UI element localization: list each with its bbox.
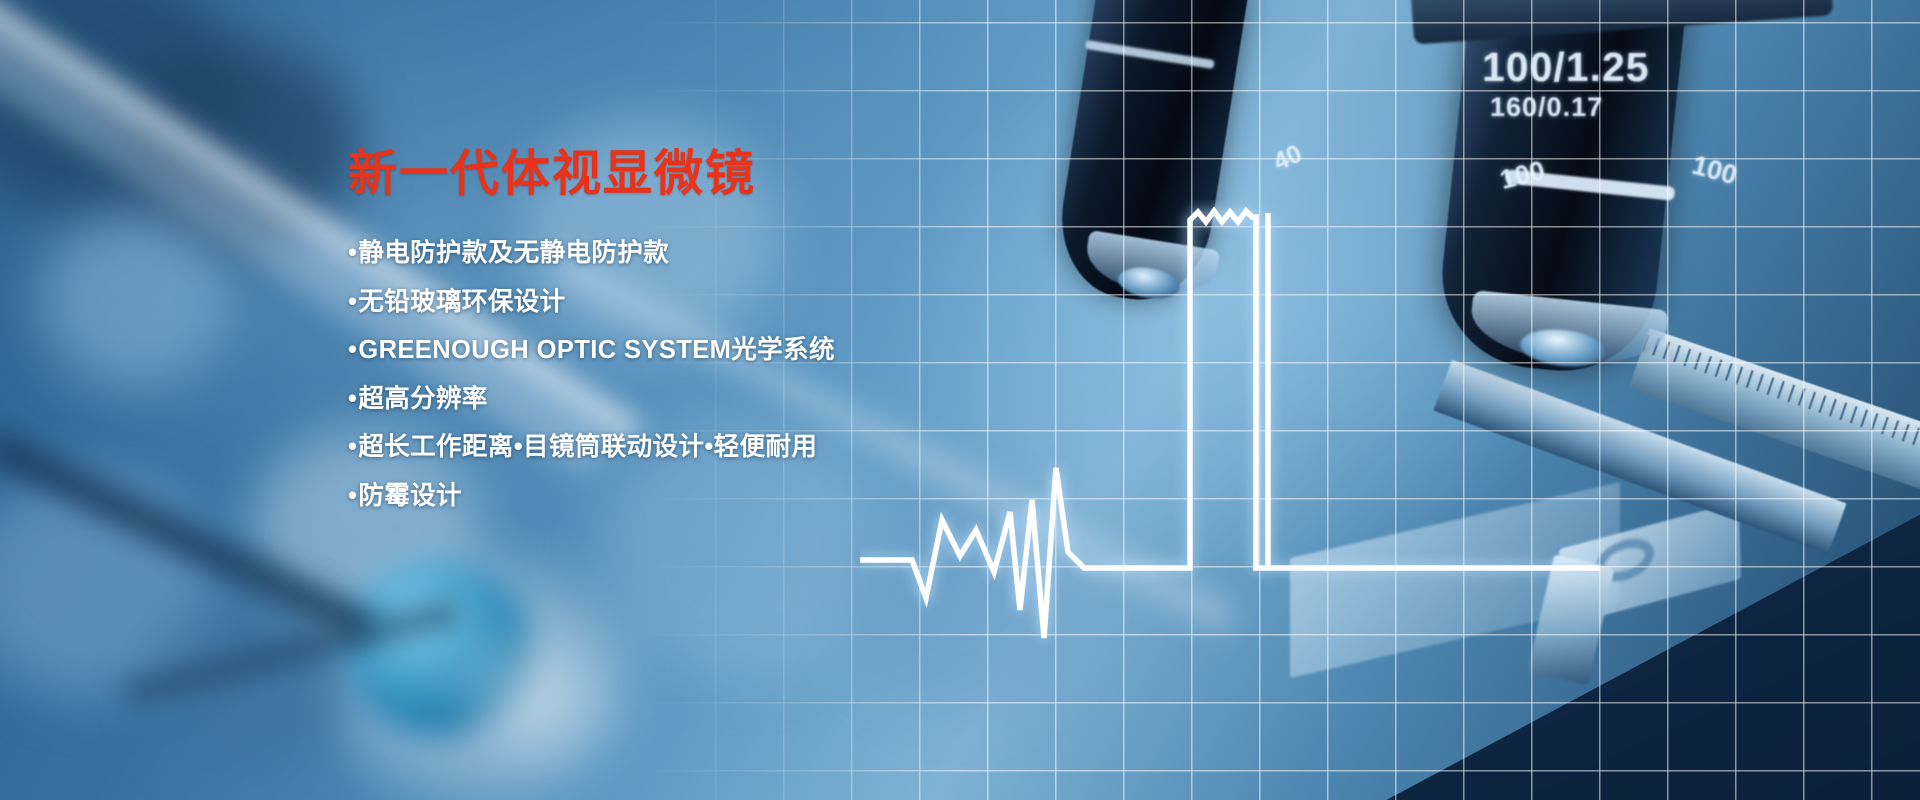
feature-bullet-2: •无铅玻璃环保设计 <box>348 290 968 316</box>
bullet-marker: • <box>348 336 357 364</box>
bullet-marker: • <box>348 482 357 510</box>
bullet-marker: • <box>348 385 357 413</box>
bullet-marker: • <box>348 433 357 461</box>
feature-text: 无铅玻璃环保设计 <box>358 288 565 316</box>
marketing-copy: 新一代体视显微镜 •静电防护款及无静电防护款 •无铅玻璃环保设计 •GREENO… <box>348 150 968 532</box>
feature-bullet-1: •静电防护款及无静电防护款 <box>348 241 968 267</box>
feature-bullet-5: •超长工作距离•目镜筒联动设计•轻便耐用 <box>348 435 968 461</box>
waveform-path <box>860 211 1600 638</box>
feature-text: 防霉设计 <box>358 482 462 510</box>
feature-text: 超长工作距离•目镜筒联动设计•轻便耐用 <box>358 433 817 461</box>
feature-bullet-3: •GREENOUGH OPTIC SYSTEM光学系统 <box>348 338 968 364</box>
feature-bullet-6: •防霉设计 <box>348 484 968 510</box>
feature-text: GREENOUGH OPTIC SYSTEM光学系统 <box>358 336 835 364</box>
feature-bullet-4: •超高分辨率 <box>348 387 968 413</box>
feature-text: 静电防护款及无静电防护款 <box>358 239 669 267</box>
signal-waveform <box>860 200 1600 700</box>
feature-text: 超高分辨率 <box>358 385 488 413</box>
page-title: 新一代体视显微镜 <box>348 150 968 199</box>
bullet-marker: • <box>348 288 357 316</box>
bullet-marker: • <box>348 239 357 267</box>
product-banner: 40 100/1.25 160/0.17 100 100 新一代体视显微镜 •静… <box>0 0 1920 800</box>
